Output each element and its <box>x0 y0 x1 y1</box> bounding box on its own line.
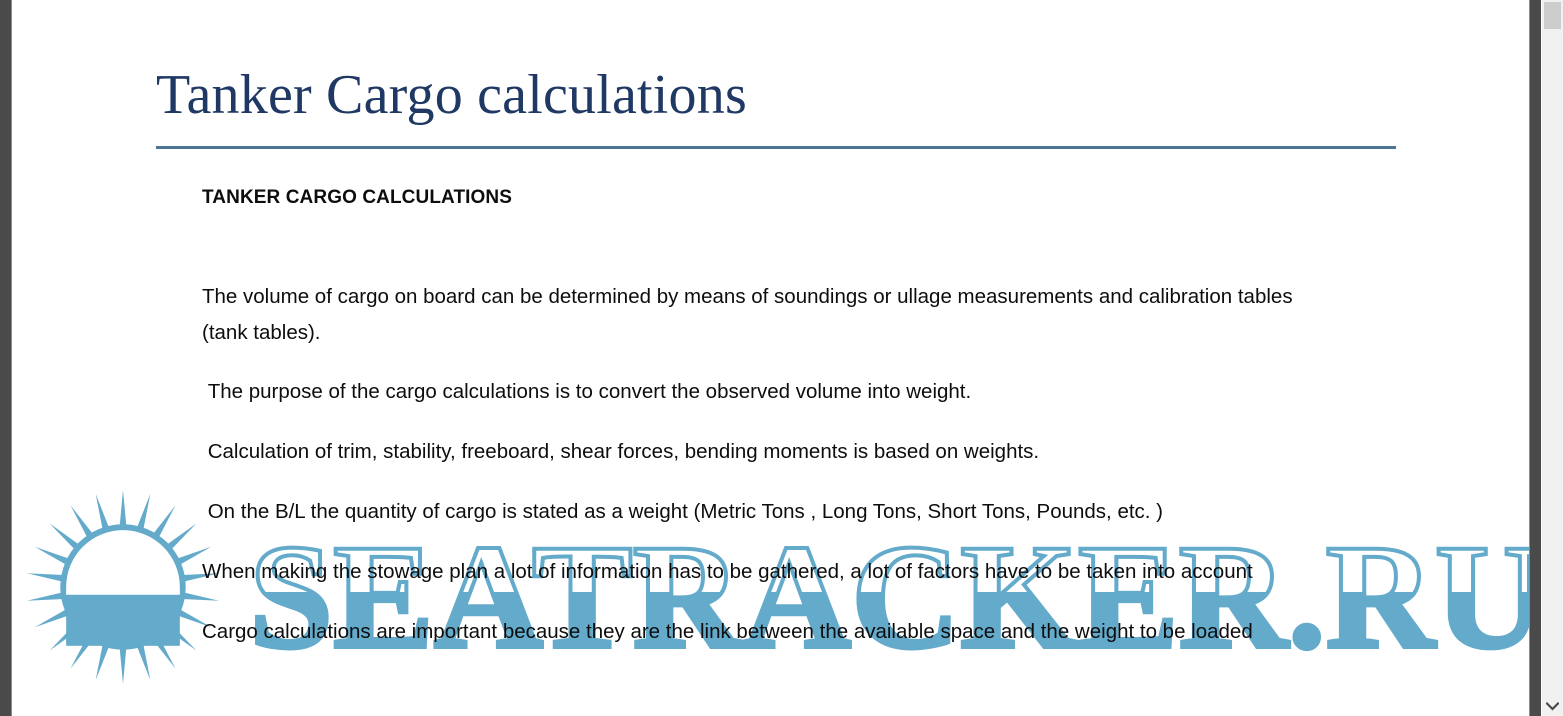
body-text-block: TANKER CARGO CALCULATIONS The volume of … <box>202 185 1502 650</box>
chevron-down-icon <box>1546 702 1559 711</box>
scroll-down-button[interactable] <box>1542 696 1563 716</box>
window-right-border <box>1529 0 1541 716</box>
title-underline-rule <box>156 146 1396 149</box>
window-left-border <box>0 0 12 716</box>
paragraph-5: When making the stowage plan a lot of in… <box>202 554 1367 590</box>
application-window: SEATRACKER.RU Tanker Cargo calculations … <box>0 0 1563 716</box>
scrollbar-thumb[interactable] <box>1544 2 1561 29</box>
paragraph-6: Cargo calculations are important because… <box>202 614 1367 650</box>
section-heading: TANKER CARGO CALCULATIONS <box>202 185 1502 211</box>
paragraph-3: Calculation of trim, stability, freeboar… <box>202 434 1502 470</box>
paragraph-1: The volume of cargo on board can be dete… <box>202 279 1302 351</box>
page-title: Tanker Cargo calculations <box>156 63 747 127</box>
document-page: SEATRACKER.RU Tanker Cargo calculations … <box>13 0 1529 716</box>
paragraph-2: The purpose of the cargo calculations is… <box>202 374 1502 410</box>
vertical-scrollbar[interactable] <box>1542 0 1563 716</box>
paragraph-4: On the B/L the quantity of cargo is stat… <box>202 494 1502 530</box>
document-content: Tanker Cargo calculations TANKER CARGO C… <box>13 0 1529 716</box>
